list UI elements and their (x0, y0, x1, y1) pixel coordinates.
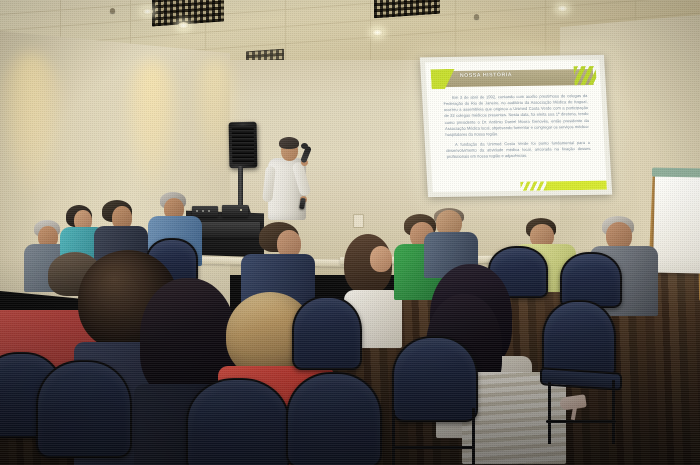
wall-outlet (353, 214, 364, 228)
head (370, 246, 392, 272)
slide-paragraph: Em 2 de abril de 1992, contando com auxí… (443, 93, 590, 138)
chair (36, 360, 132, 458)
ceiling-spotlight (557, 5, 568, 12)
ceiling-spotlight (142, 8, 153, 15)
slide-stripe-accent-icon (574, 66, 597, 85)
speaker-stand-pole (238, 166, 243, 210)
ceiling-spotlight (178, 22, 189, 29)
projection-screen: NOSSA HISTÓRIA Em 2 de abril de 1992, co… (420, 55, 612, 197)
ceiling-spotlight (372, 29, 383, 36)
chair (292, 296, 362, 370)
chair-backrest (292, 296, 362, 370)
chair-backrest (392, 336, 478, 422)
chair-rail (392, 446, 474, 449)
chair (286, 372, 382, 465)
chair-backrest (186, 378, 290, 465)
presentation-room-photo: NOSSA HISTÓRIA Em 2 de abril de 1992, co… (0, 0, 700, 465)
slide-footer-stripe-icon (520, 182, 547, 191)
av-knob-icon (208, 210, 210, 212)
chair-leg (548, 382, 551, 444)
av-led-icon (240, 209, 242, 211)
presenter-hair (279, 137, 299, 149)
slide-title-bar (433, 69, 594, 87)
chair-leg (392, 410, 395, 465)
slide-title: NOSSA HISTÓRIA (460, 72, 513, 79)
flipchart-clip (652, 168, 700, 178)
slide-body: Em 2 de abril de 1992, contando com auxí… (443, 93, 591, 164)
av-knob-icon (202, 210, 204, 212)
chair-leg (612, 380, 615, 444)
chair (392, 336, 478, 422)
av-knob-icon (196, 210, 198, 212)
microphone-head-icon (301, 143, 308, 149)
chair (186, 378, 290, 465)
flipchart-paper (653, 173, 700, 274)
slide-paragraph: A fundação da Unimed Costa Verde foi pon… (446, 140, 591, 160)
sprinkler-head (110, 8, 115, 13)
chair-rail (546, 420, 616, 423)
speaker-grille-icon (232, 126, 255, 164)
chair-backrest (286, 372, 382, 465)
chair-leg (472, 408, 475, 465)
chair-backrest (36, 360, 132, 458)
slide-content: NOSSA HISTÓRIA Em 2 de abril de 1992, co… (425, 60, 607, 192)
pa-speaker (229, 122, 258, 168)
av-amplifier (222, 205, 248, 217)
sprinkler-head (474, 14, 479, 19)
